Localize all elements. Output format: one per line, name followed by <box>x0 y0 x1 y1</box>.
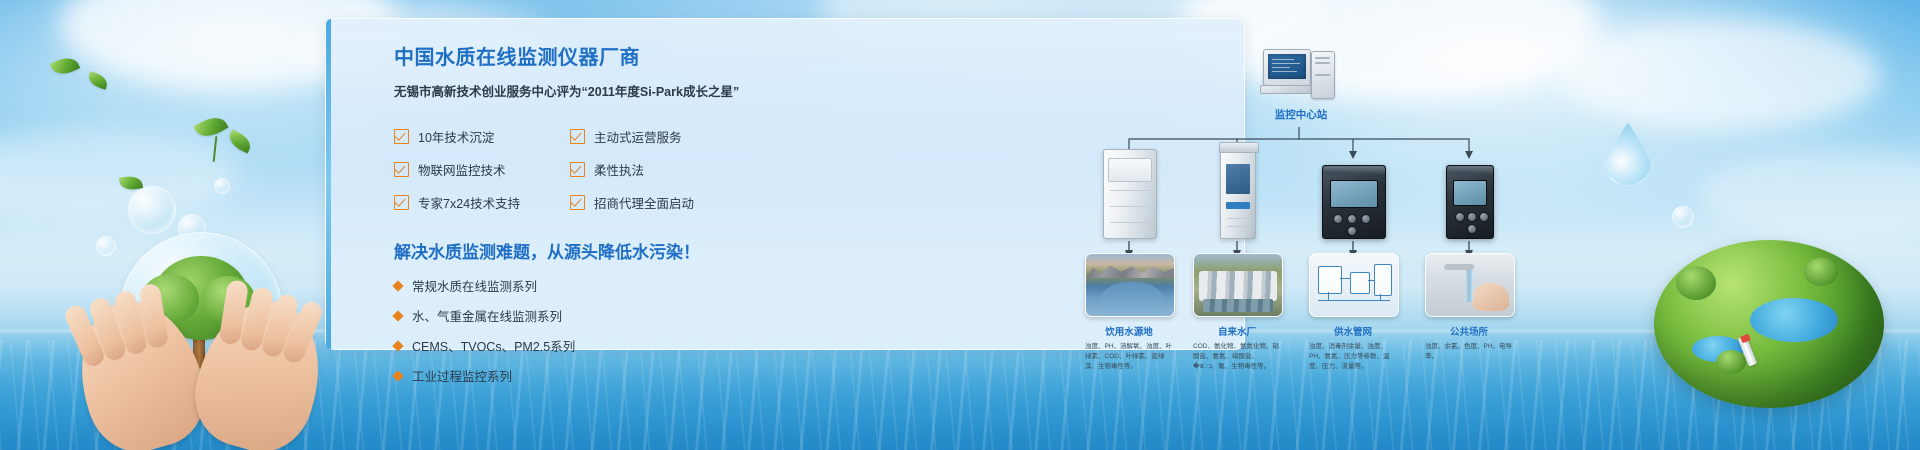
bubble-icon <box>214 178 230 194</box>
list-item-label: 工业过程监控系列 <box>412 366 512 385</box>
hands-holding-tree-icon <box>75 240 325 450</box>
checklist-item-label: 专家7x24技术支持 <box>418 193 520 212</box>
page-subtitle: 无锡市高新技术创业服务中心评为“2011年度Si-Park成长之星” <box>394 81 794 100</box>
island-tree <box>1804 258 1838 286</box>
list-item-label: CEMS、TVOCs、PM2.5系列 <box>412 336 575 355</box>
water-droplet-icon <box>1604 122 1652 186</box>
bubble-icon <box>128 186 176 234</box>
checkbox-checked-icon <box>570 195 585 210</box>
island-lake <box>1750 298 1838 342</box>
text-column: 中国水质在线监测仪器厂商 无锡市高新技术创业服务中心评为“2011年度Si-Pa… <box>394 41 794 385</box>
scenario-card[interactable]: 自来水厂 COD、氨化物、氨氮化物、硝酸盐、氨氮、硝酸盐、�ോ、氟、生物毒性等。 <box>1193 253 1281 372</box>
diamond-bullet-icon <box>392 340 403 351</box>
cloud-shape <box>1560 20 1880 130</box>
keyboard-icon <box>1260 85 1314 94</box>
leaves-icon <box>50 53 80 78</box>
list-item-label: 水、气重金属在线监测系列 <box>412 306 562 325</box>
cloud-shape <box>0 130 240 220</box>
scenario-card[interactable]: 公共场所 浊度、余氯、色度、PH、电导率。 <box>1425 253 1513 362</box>
scenario-title: 饮用水源地 <box>1085 324 1173 338</box>
water-sampler-column <box>1220 147 1256 239</box>
scenario-desc: 浊度、PH、溶解氧、浊度、叶绿素、COD、叶绿素、蓝绿藻、生物毒性等。 <box>1085 342 1173 372</box>
checkbox-checked-icon <box>394 129 409 144</box>
diamond-bullet-icon <box>392 310 403 321</box>
monitor-screen <box>1268 54 1306 79</box>
cloud-shape <box>1700 150 1920 240</box>
monitor-instrument-narrow <box>1446 165 1494 239</box>
content-card: 中国水质在线监测仪器厂商 无锡市高新技术创业服务中心评为“2011年度Si-Pa… <box>325 18 1245 350</box>
device-row <box>1081 149 1501 239</box>
scenario-title: 供水管网 <box>1309 324 1397 338</box>
checklist-item: 招商代理全面启动 <box>570 193 794 212</box>
checkbox-checked-icon <box>570 129 585 144</box>
monitor-instrument-wide <box>1322 165 1386 239</box>
scenario-title: 公共场所 <box>1425 324 1513 338</box>
section-title: 解决水质监测难题，从源头降低水污染！ <box>394 238 794 263</box>
checklist-item: 专家7x24技术支持 <box>394 193 562 212</box>
checklist-item-label: 柔性执法 <box>594 160 644 179</box>
center-station-label: 监控中心站 <box>1221 107 1381 122</box>
checklist-item: 柔性执法 <box>570 160 794 179</box>
checklist-item-label: 主动式运营服务 <box>594 127 682 146</box>
product-series-list: 常规水质在线监测系列 水、气重金属在线监测系列 CEMS、TVOCs、PM2.5… <box>394 276 794 385</box>
pc-tower-icon <box>1311 51 1335 99</box>
water-quality-banner: 中国水质在线监测仪器厂商 无锡市高新技术创业服务中心评为“2011年度Si-Pa… <box>0 0 1920 450</box>
river-source-photo <box>1085 253 1175 317</box>
feature-checklist: 10年技术沉淀 主动式运营服务 物联网监控技术 柔性执法 专家7x24技术支持 <box>394 127 794 212</box>
scenario-title: 自来水厂 <box>1193 324 1281 338</box>
computer-workstation-icon <box>1263 49 1335 101</box>
diamond-bullet-icon <box>392 280 403 291</box>
checkbox-checked-icon <box>570 162 585 177</box>
pipe-network-photo <box>1309 253 1399 317</box>
list-item: CEMS、TVOCs、PM2.5系列 <box>394 336 794 355</box>
scenario-desc: 浊度、消毒剂余量、浊度、PH、氨氮、压力等参数、温度、压力、流量等。 <box>1309 342 1397 372</box>
leaves-icon <box>226 129 254 153</box>
monitor-icon <box>1263 49 1311 86</box>
list-item: 水、气重金属在线监测系列 <box>394 306 794 325</box>
leaves-icon <box>194 112 229 143</box>
checklist-item: 物联网监控技术 <box>394 160 562 179</box>
island-tree <box>1716 350 1746 374</box>
checklist-item: 10年技术沉淀 <box>394 127 562 146</box>
green-earth-island-icon <box>1654 240 1884 410</box>
checklist-item: 主动式运营服务 <box>570 127 794 146</box>
diamond-bullet-icon <box>392 370 403 381</box>
checklist-item-label: 10年技术沉淀 <box>418 127 494 146</box>
water-plant-photo <box>1193 253 1283 317</box>
checklist-item-label: 物联网监控技术 <box>418 160 506 179</box>
list-item: 工业过程监控系列 <box>394 366 794 385</box>
checklist-item-label: 招商代理全面启动 <box>594 193 694 212</box>
page-title: 中国水质在线监测仪器厂商 <box>394 41 794 70</box>
bubble-icon <box>1672 206 1694 228</box>
checkbox-checked-icon <box>394 162 409 177</box>
scenario-card[interactable]: 饮用水源地 浊度、PH、溶解氧、浊度、叶绿素、COD、叶绿素、蓝绿藻、生物毒性等… <box>1085 253 1173 372</box>
scenario-desc: 浊度、余氯、色度、PH、电导率。 <box>1425 342 1513 362</box>
system-diagram: 监控中心站 <box>1081 41 1501 361</box>
scenario-card[interactable]: 供水管网 浊度、消毒剂余量、浊度、PH、氨氮、压力等参数、温度、压力、流量等。 <box>1309 253 1397 372</box>
list-item: 常规水质在线监测系列 <box>394 276 794 295</box>
public-tap-photo <box>1425 253 1515 317</box>
water-analyzer-cabinet <box>1103 149 1157 239</box>
list-item-label: 常规水质在线监测系列 <box>412 276 537 295</box>
island-tree <box>1676 266 1716 300</box>
leaves-icon <box>86 71 109 90</box>
scenario-desc: COD、氨化物、氨氮化物、硝酸盐、氨氮、硝酸盐、�ോ、氟、生物毒性等。 <box>1193 342 1281 372</box>
checkbox-checked-icon <box>394 195 409 210</box>
